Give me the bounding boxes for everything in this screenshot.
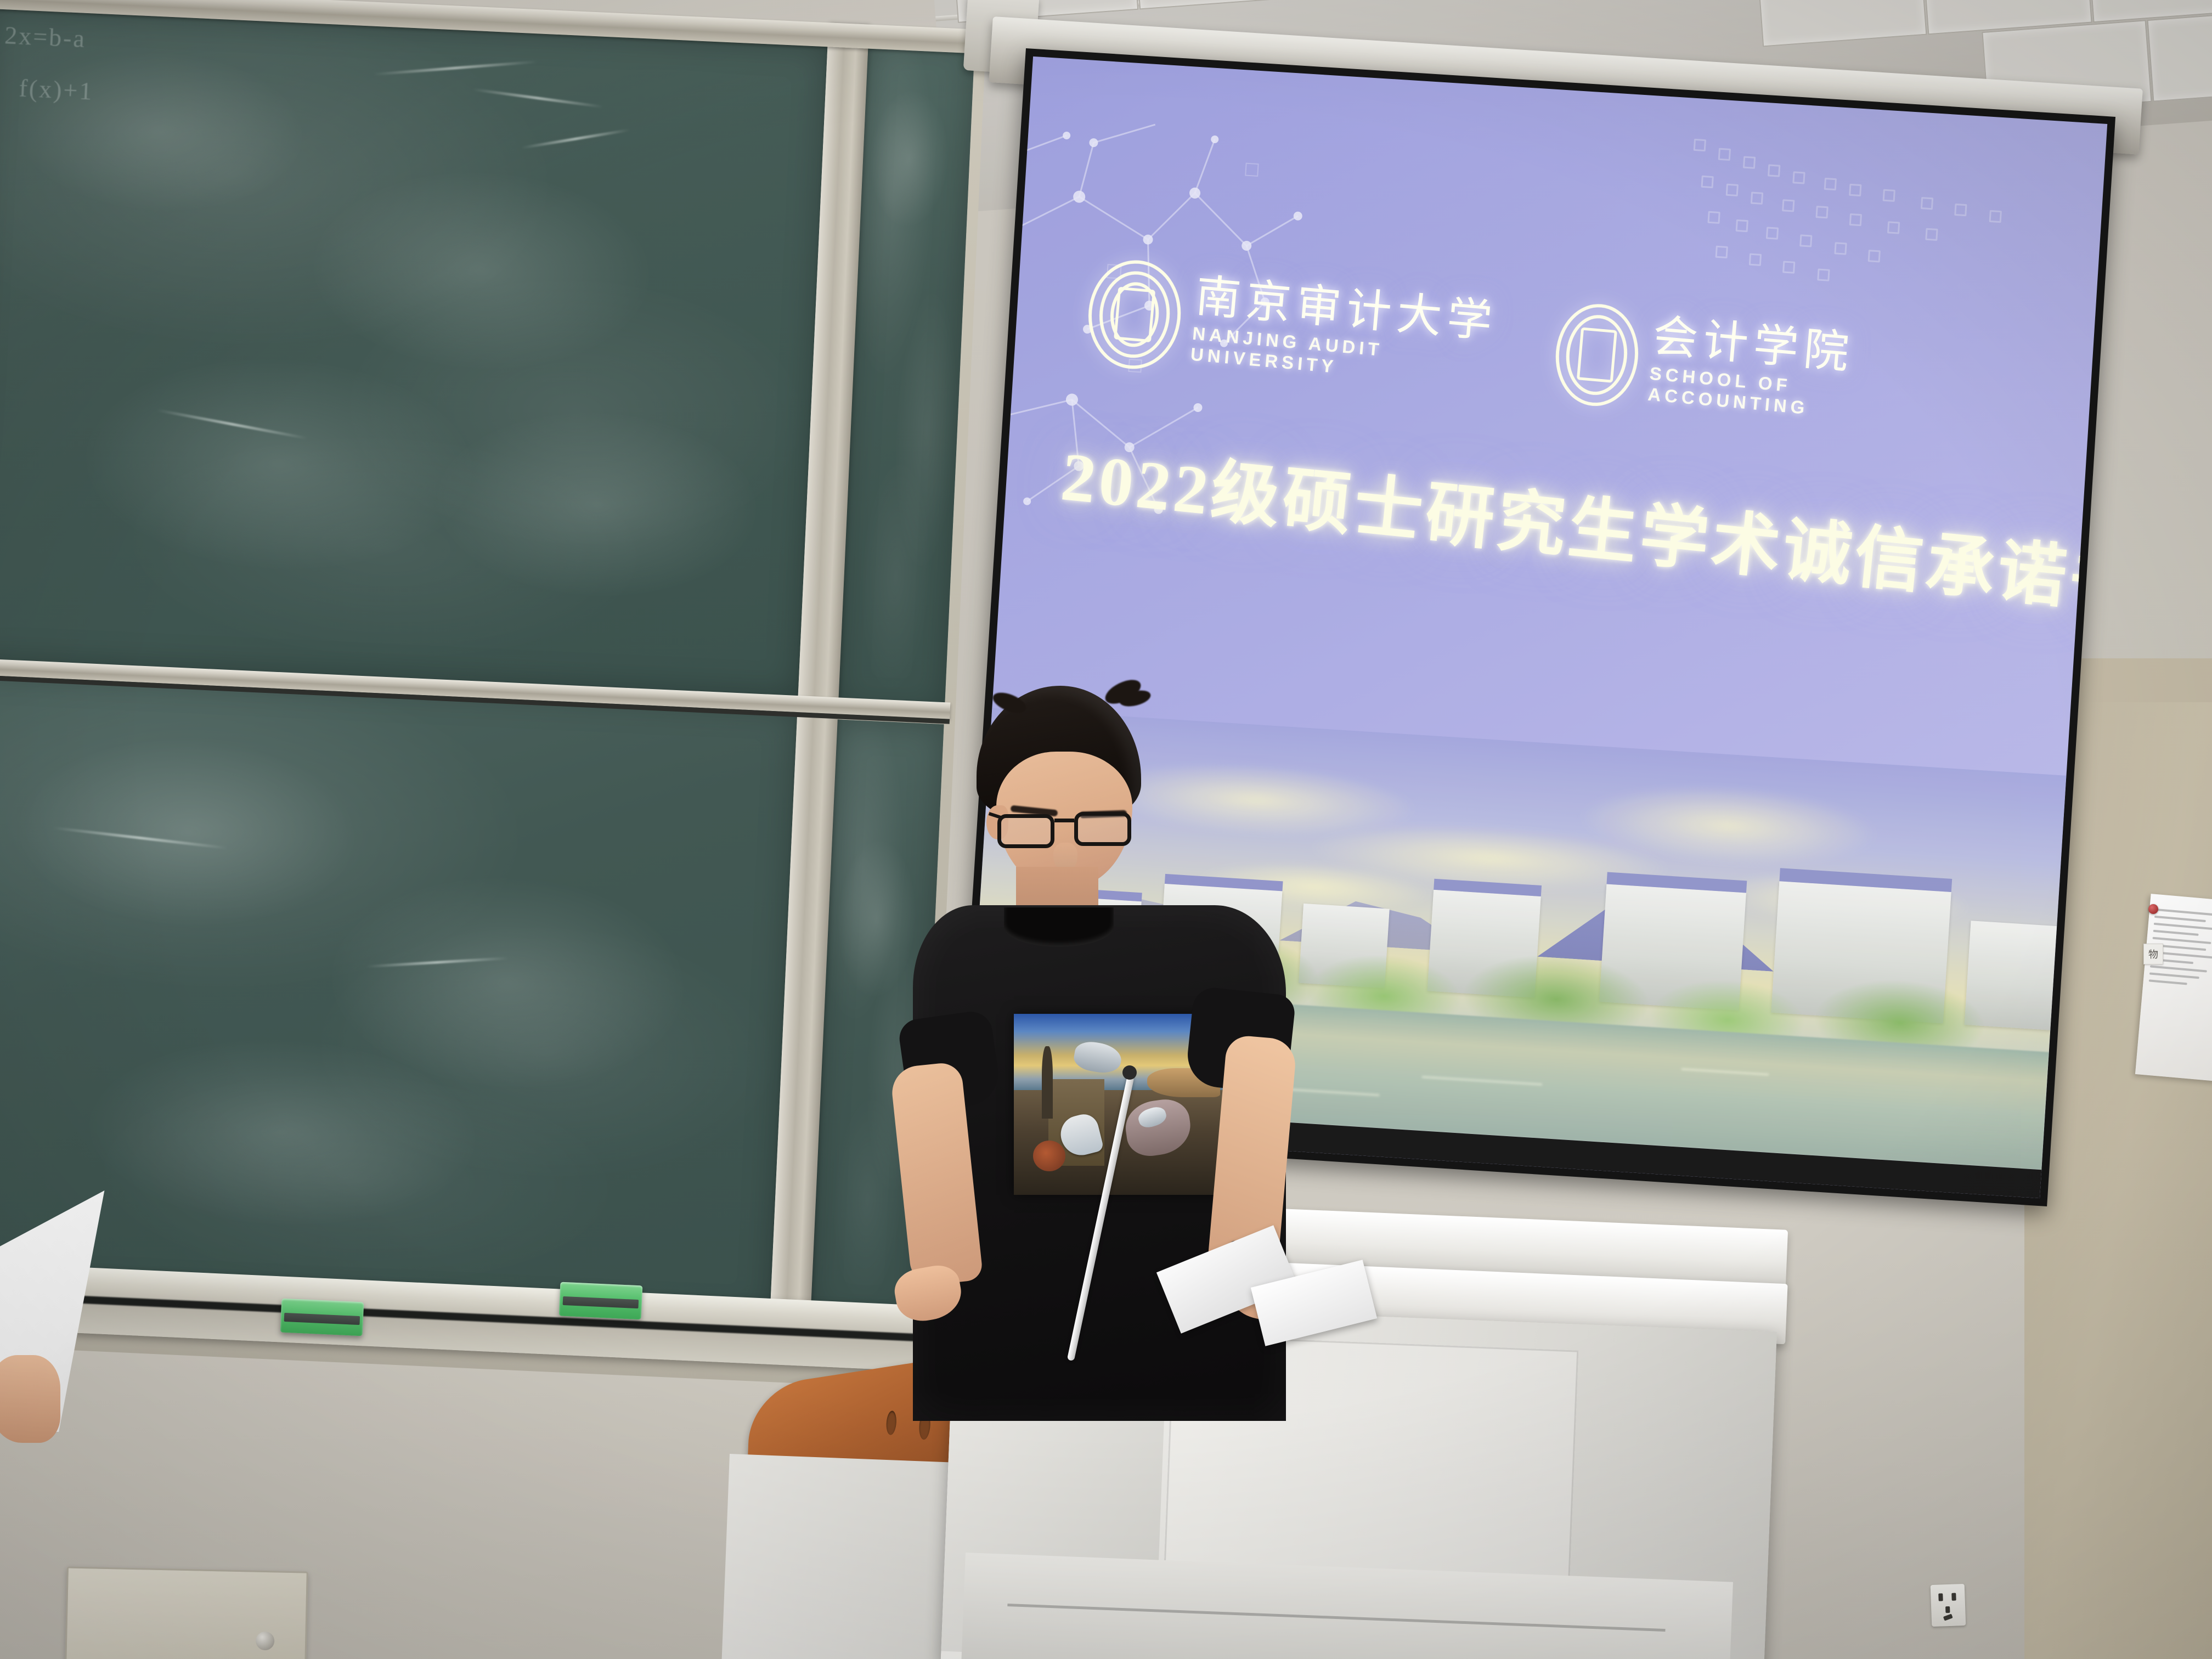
chalkboard-panel-upper-left: 2x=b-a f(x)+1 (0, 7, 828, 697)
school-of-accounting-seal-icon (1551, 301, 1643, 409)
hand-holding-paper (0, 1355, 60, 1443)
classroom-photo-scene: 2x=b-a f(x)+1 (0, 0, 2212, 1659)
chalkboard-assembly: 2x=b-a f(x)+1 (0, 0, 986, 1389)
student-speaker (889, 686, 1383, 1509)
shirt-collar (1004, 907, 1114, 947)
chalkboard-panel-lower-left (0, 669, 798, 1321)
chalkboard-eraser-right[interactable] (559, 1282, 643, 1320)
pointer-stick-tip (1122, 1065, 1137, 1080)
university-logo-block: 南京审计大学 NANJING AUDIT UNIVERSITY (1084, 256, 1522, 402)
wall-service-hatch[interactable] (65, 1566, 308, 1659)
school-logo-block: 会计学院 SCHOOL OF ACCOUNTING (1551, 301, 1946, 436)
nanjing-audit-university-seal-icon (1084, 256, 1186, 373)
chalkboard-eraser-left[interactable] (280, 1299, 364, 1336)
pushpin-icon (2148, 904, 2158, 914)
wall-label-sticker: 物 (2143, 944, 2163, 964)
power-outlet[interactable] (1931, 1584, 1966, 1627)
hatch-knob-icon[interactable] (256, 1632, 275, 1651)
